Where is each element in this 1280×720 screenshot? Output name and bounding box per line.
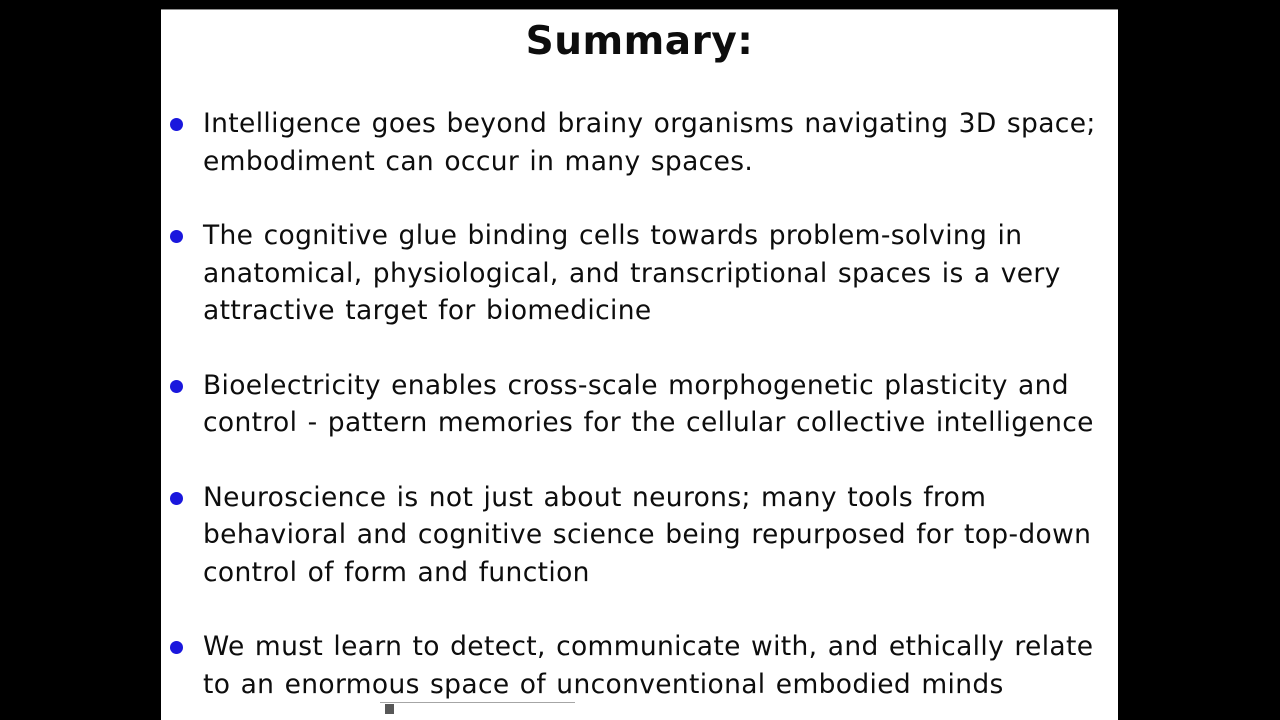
page-title: Summary: [161, 18, 1118, 66]
list-item: Bioelectricity enables cross-scale morph… [170, 367, 1118, 442]
list-item-text: Neuroscience is not just about neurons; … [203, 479, 1118, 592]
bullet-point-icon [170, 230, 183, 243]
scan-artifact-mark [385, 704, 394, 714]
bullet-point-icon [170, 380, 183, 393]
list-item-text: Bioelectricity enables cross-scale morph… [203, 367, 1118, 442]
video-frame: Summary: Intelligence goes beyond brainy… [0, 0, 1280, 720]
bullet-point-icon [170, 641, 183, 654]
presentation-slide: Summary: Intelligence goes beyond brainy… [161, 9, 1118, 720]
letterbox-bar-top [0, 0, 1280, 9]
list-item: Intelligence goes beyond brainy organism… [170, 105, 1118, 180]
list-item: Neuroscience is not just about neurons; … [170, 479, 1118, 592]
list-item: The cognitive glue binding cells towards… [170, 217, 1118, 330]
scan-artifact-line [380, 702, 575, 703]
list-item: We must learn to detect, communicate wit… [170, 628, 1118, 703]
letterbox-bar-right [1118, 0, 1280, 720]
letterbox-bar-left [0, 0, 161, 720]
bullet-list: Intelligence goes beyond brainy organism… [170, 105, 1118, 703]
list-item-text: Intelligence goes beyond brainy organism… [203, 105, 1118, 180]
list-item-text: We must learn to detect, communicate wit… [203, 628, 1118, 703]
list-item-text: The cognitive glue binding cells towards… [203, 217, 1118, 330]
bullet-point-icon [170, 118, 183, 131]
bullet-point-icon [170, 492, 183, 505]
